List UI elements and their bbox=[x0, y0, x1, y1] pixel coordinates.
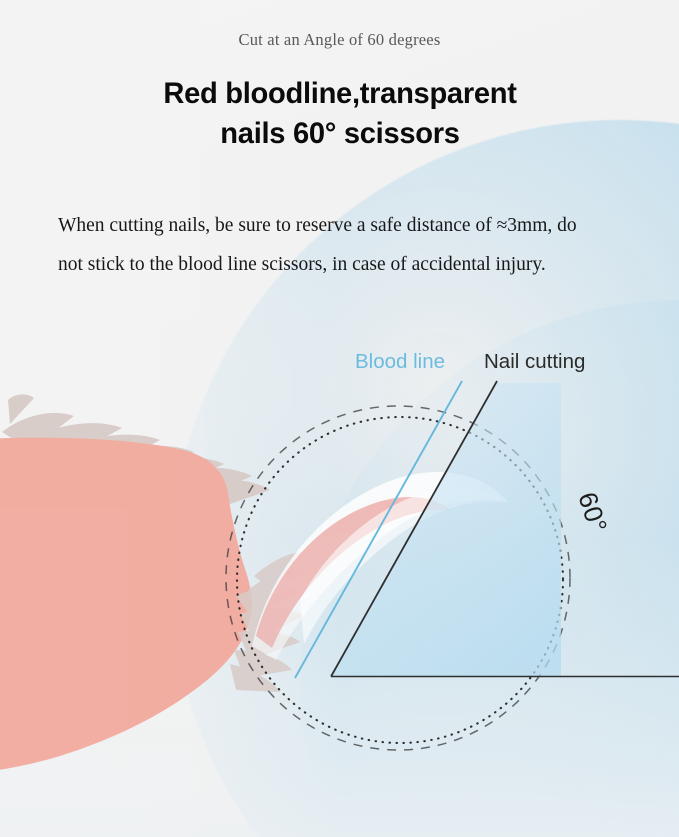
nail-cutting-label: Nail cutting bbox=[484, 350, 585, 374]
angle-label: 60° bbox=[571, 488, 613, 536]
eyebrow-text: Cut at an Angle of 60 degrees bbox=[0, 30, 679, 50]
page-title-line-2: nails 60° scissors bbox=[97, 114, 582, 154]
product-infographic: Blood line Nail cutting 60° Cut at an An… bbox=[0, 0, 679, 837]
page-title-line-1: Red bloodline,transparent bbox=[97, 74, 582, 114]
header-block: Cut at an Angle of 60 degrees Red bloodl… bbox=[0, 0, 679, 153]
blood-line-label: Blood line bbox=[355, 350, 445, 374]
page-title: Red bloodline,transparent nails 60° scis… bbox=[97, 74, 582, 153]
